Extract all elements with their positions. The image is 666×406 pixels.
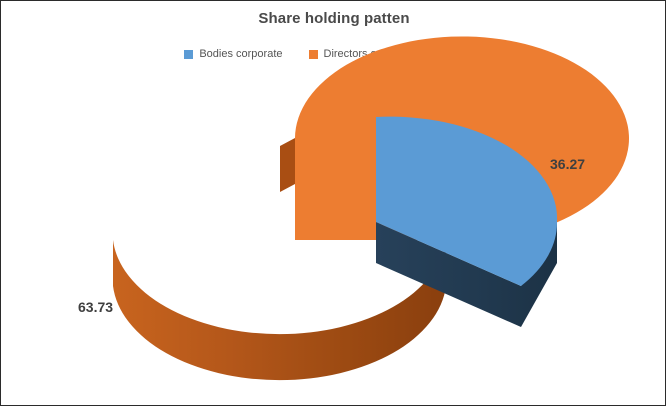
pie-chart-graphic [1, 1, 666, 406]
data-label-directors-or-relatives: 63.73 [78, 299, 113, 315]
pie-slice-orange-cut-wall [280, 138, 295, 192]
chart-container: Share holding patten Bodies corporate Di… [0, 0, 666, 406]
data-label-bodies-corporate: 36.27 [550, 156, 585, 172]
